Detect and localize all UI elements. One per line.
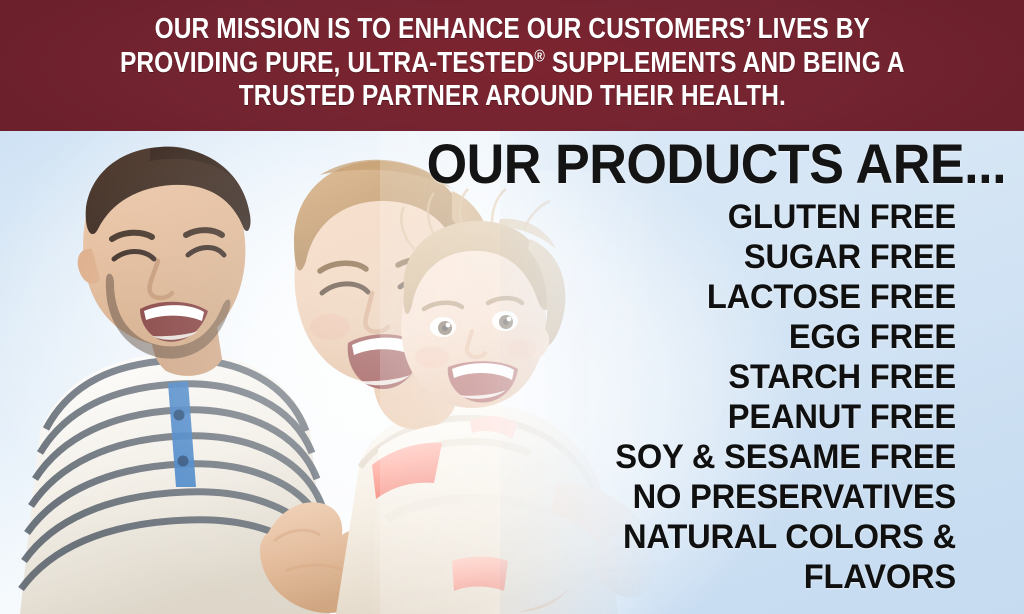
promotional-poster: OUR MISSION IS TO ENHANCE OUR CUSTOMERS’… <box>0 0 1024 614</box>
registered-trademark-icon: ® <box>534 46 545 65</box>
image-stage <box>0 131 1024 614</box>
mission-line-2-suffix: SUPPLEMENTS AND BEING A <box>545 47 905 79</box>
mission-statement-banner: OUR MISSION IS TO ENHANCE OUR CUSTOMERS’… <box>0 0 1024 131</box>
mission-statement-text: OUR MISSION IS TO ENHANCE OUR CUSTOMERS’… <box>120 13 905 114</box>
mission-line-2-prefix: PROVIDING PURE, ULTRA-TESTED <box>120 47 534 79</box>
family-photo <box>0 131 660 614</box>
mission-line-1: OUR MISSION IS TO ENHANCE OUR CUSTOMERS’… <box>154 13 869 45</box>
mission-line-3: TRUSTED PARTNER AROUND THEIR HEALTH. <box>238 80 785 112</box>
